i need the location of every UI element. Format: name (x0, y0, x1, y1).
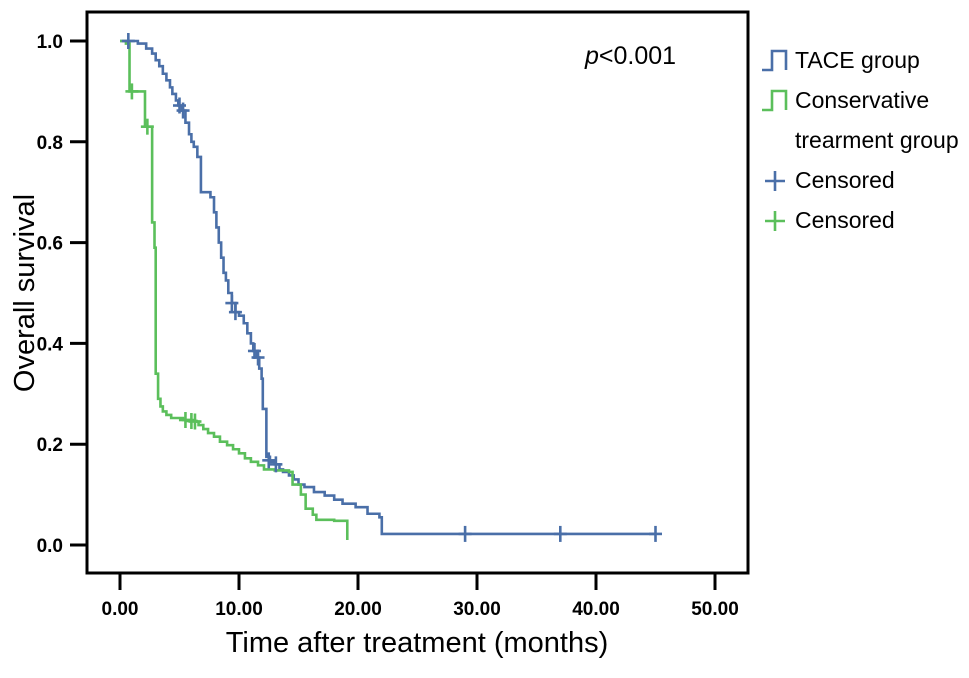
x-tick-label: 30.00 (453, 599, 501, 620)
p-value-symbol: p (584, 42, 599, 70)
legend-label: TACE group (795, 47, 920, 73)
y-tick-label: 0.2 (37, 435, 63, 456)
y-axis-title: Overall survival (9, 194, 41, 392)
legend-label: Censored (795, 167, 895, 193)
p-value-annotation: p<0.001 (584, 42, 676, 70)
x-tick-label: 50.00 (691, 599, 739, 620)
x-tick-label: 10.00 (215, 599, 263, 620)
p-value-number: <0.001 (599, 42, 676, 70)
km-chart-svg: 0.0010.0020.0030.0040.0050.00 0.00.20.40… (0, 0, 969, 678)
legend-item: TACE group (762, 47, 920, 73)
y-tick-label: 0.8 (37, 133, 63, 154)
x-tick-label: 40.00 (572, 599, 620, 620)
x-axis-title: Time after treatment (months) (226, 627, 608, 659)
x-tick-label: 0.00 (102, 599, 139, 620)
legend-label: Censored (795, 207, 895, 233)
kaplan-meier-figure: 0.0010.0020.0030.0040.0050.00 0.00.20.40… (0, 0, 969, 678)
legend-label: trearment group (795, 127, 959, 153)
y-tick-label: 0.0 (37, 536, 63, 557)
x-tick-label: 20.00 (334, 599, 382, 620)
y-tick-label: 1.0 (37, 32, 63, 53)
legend-label: Conservative (795, 87, 929, 113)
legend-item: Conservative (762, 87, 929, 113)
legend-item: trearment group (795, 127, 959, 153)
